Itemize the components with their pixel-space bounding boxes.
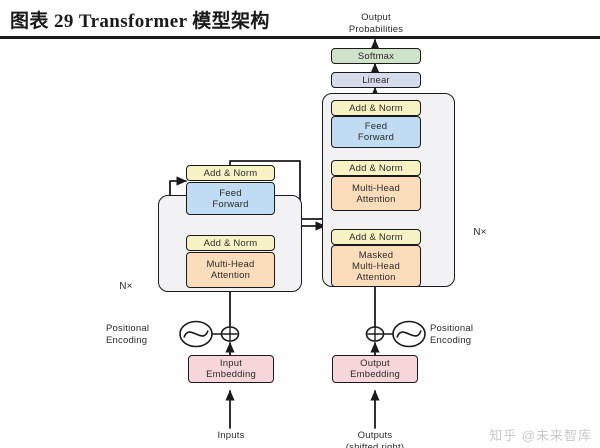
add-operator-decoder bbox=[367, 327, 384, 341]
output-probabilities-label: Output Probabilities bbox=[331, 12, 421, 35]
page-title: 图表 29 Transformer 模型架构 bbox=[10, 6, 270, 33]
decoder-add-norm-2[interactable]: Add & Norm bbox=[331, 160, 421, 176]
decoder-feed-forward[interactable]: Feed Forward bbox=[331, 116, 421, 148]
linear-block[interactable]: Linear bbox=[331, 72, 421, 88]
figure-header: 图表 29 Transformer 模型架构 bbox=[0, 0, 600, 38]
decoder-add-norm-3[interactable]: Add & Norm bbox=[331, 100, 421, 116]
encoder-add-norm-2[interactable]: Add & Norm bbox=[186, 165, 275, 181]
encoder-add-norm-1[interactable]: Add & Norm bbox=[186, 235, 275, 251]
figure-page: 图表 29 Transformer 模型架构 bbox=[0, 0, 600, 448]
transformer-architecture-diagram: N× Add & Norm Multi-Head Attention Add &… bbox=[0, 39, 600, 448]
sine-wave-icon-decoder bbox=[393, 322, 425, 347]
encoder-positional-encoding-label: Positional Encoding bbox=[106, 323, 184, 346]
decoder-add-norm-1[interactable]: Add & Norm bbox=[331, 229, 421, 245]
encoder-repeat-label: N× bbox=[108, 281, 144, 293]
output-embedding-block[interactable]: Output Embedding bbox=[332, 355, 418, 383]
watermark: 知乎 @未来智库 bbox=[489, 425, 592, 444]
softmax-block[interactable]: Softmax bbox=[331, 48, 421, 64]
encoder-multi-head-attention[interactable]: Multi-Head Attention bbox=[186, 252, 275, 288]
inputs-label: Inputs bbox=[196, 430, 266, 442]
outputs-label: Outputs (shifted right) bbox=[325, 430, 425, 448]
decoder-positional-encoding-label: Positional Encoding bbox=[430, 323, 510, 346]
decoder-multi-head-attention[interactable]: Multi-Head Attention bbox=[331, 176, 421, 211]
decoder-repeat-label: N× bbox=[462, 227, 498, 239]
add-operator-encoder bbox=[222, 327, 239, 341]
decoder-masked-multi-head-attention[interactable]: Masked Multi-Head Attention bbox=[331, 245, 421, 287]
encoder-feed-forward[interactable]: Feed Forward bbox=[186, 182, 275, 215]
sine-wave-icon-encoder bbox=[180, 322, 212, 347]
input-embedding-block[interactable]: Input Embedding bbox=[188, 355, 274, 383]
